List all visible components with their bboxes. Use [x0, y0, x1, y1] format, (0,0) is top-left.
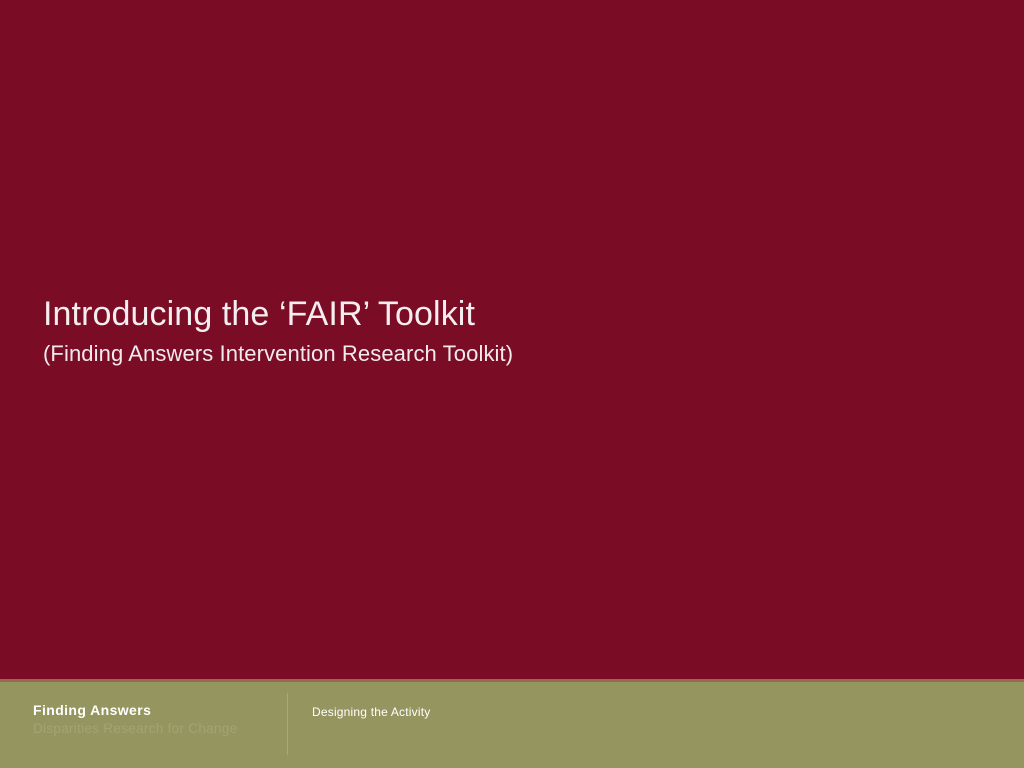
- title-block: Introducing the ‘FAIR’ Toolkit (Finding …: [43, 291, 923, 369]
- finding-answers-logo: Finding Answers Disparities Research for…: [33, 702, 263, 737]
- presentation-slide: Introducing the ‘FAIR’ Toolkit (Finding …: [0, 0, 1024, 768]
- page-title: Introducing the ‘FAIR’ Toolkit: [43, 291, 923, 337]
- logo-tagline: Disparities Research for Change: [33, 720, 263, 737]
- footer-divider: [287, 693, 288, 755]
- logo-name: Finding Answers: [33, 702, 263, 719]
- slide-footer: Finding Answers Disparities Research for…: [0, 682, 1024, 768]
- page-subtitle: (Finding Answers Intervention Research T…: [43, 339, 923, 369]
- footer-section-label: Designing the Activity: [312, 704, 430, 720]
